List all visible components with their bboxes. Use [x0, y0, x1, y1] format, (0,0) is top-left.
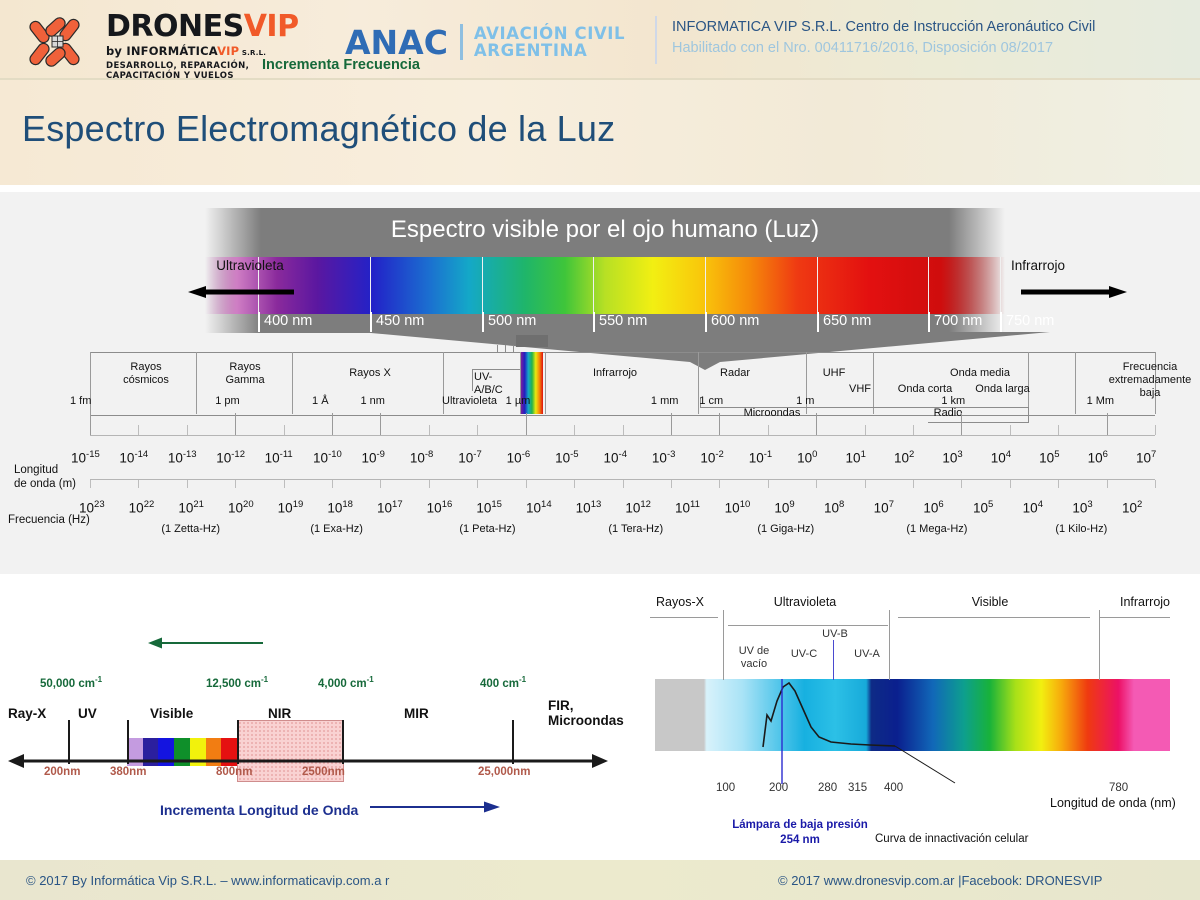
wavenumber-label: 400 cm-1 [480, 675, 526, 690]
minor-tick [865, 425, 866, 435]
frequency-exponent-label: 106 [923, 499, 943, 516]
uv-c-label: UV-C [782, 648, 826, 661]
minor-tick-lower [1155, 480, 1156, 488]
wavelength-exponent-label: 107 [1136, 449, 1156, 466]
uv-visible-spectrum-bar [655, 679, 1170, 776]
anac-subtitle-line2: ARGENTINA [474, 42, 625, 59]
brand-name-vip: VIP [244, 9, 299, 44]
minor-tick-lower [913, 480, 914, 488]
uv-arrow-icon [188, 286, 294, 298]
em-band-label: RayosGamma [202, 361, 288, 387]
wavelength-exponent-label: 10-14 [119, 449, 148, 466]
minor-tick-lower [138, 480, 139, 488]
em-band-separator [292, 352, 293, 414]
wavelength-exponent-label: 10-12 [216, 449, 245, 466]
uv-b-label: UV-B [810, 628, 860, 641]
anac-logo: ANAC AVIACIÓN CIVIL ARGENTINA [345, 22, 625, 62]
frequency-exponent-label: 105 [973, 499, 993, 516]
minor-tick-lower [768, 480, 769, 488]
wavelength-row-label-l2: de onda (m) [14, 477, 76, 491]
uv-visible-axis-label: Longitud de onda (nm) [1050, 796, 1176, 810]
frequency-exponent-label: 1017 [377, 499, 403, 516]
uv-tick-label: 315 [848, 782, 867, 794]
minor-tick-lower [526, 480, 527, 488]
minor-tick-lower [719, 480, 720, 488]
spectrum-tick-label: 750 nm [1000, 312, 1054, 332]
ir-region-separator [237, 720, 239, 764]
slide-root: DRONESVIP by INFORMÁTICAVIP S.R.L. DESAR… [0, 0, 1200, 900]
frequency-exponent-label: 1012 [625, 499, 651, 516]
wavelength-exponent-label: 10-11 [265, 449, 293, 466]
uv-tick-label: 280 [818, 782, 837, 794]
wavelength-exponent-label: 104 [991, 449, 1011, 466]
ir-region-separator [342, 720, 344, 764]
spectrum-tick-label: 600 nm [705, 312, 759, 332]
wavenumber-label: 50,000 cm-1 [40, 675, 102, 690]
visible-spectrum-tick-labels: 400 nm450 nm500 nm550 nm600 nm650 nm700 … [205, 312, 1005, 342]
uv-side-label: Ultravioleta [185, 258, 315, 273]
unit-tick [671, 413, 672, 435]
wavelength-exponent-label: 106 [1088, 449, 1108, 466]
minor-tick-lower [865, 480, 866, 488]
frequency-exponent-label: 1016 [427, 499, 453, 516]
spectrum-tick [817, 257, 818, 314]
unit-tick [719, 413, 720, 435]
ir-region-label: Visible [150, 706, 193, 721]
em-band-label: Onda media [930, 367, 1030, 380]
uv-b-marker [833, 640, 834, 680]
propeller-icon [28, 14, 98, 70]
em-band-separator [1075, 352, 1076, 414]
lamp-annotation-line1: Lámpara de baja presión [700, 818, 900, 833]
ir-region-label: UV [78, 706, 97, 721]
minor-tick [187, 425, 188, 435]
minor-tick-lower [816, 480, 817, 488]
onda-brace [928, 422, 1028, 423]
em-band-label-l1: Rayos [100, 361, 192, 374]
spectrum-tick [370, 257, 371, 314]
minor-tick [429, 425, 430, 435]
em-band-label: Rayoscósmicos [100, 361, 192, 387]
wavelength-exponent-label: 10-7 [458, 449, 481, 466]
curve-annotation: Curva de innactivación celular [875, 833, 1028, 845]
increment-frequency-arrow-icon [148, 636, 263, 650]
frequency-exponent-label: 1013 [576, 499, 602, 516]
em-band-label-l1: Rayos X [300, 367, 440, 380]
minor-tick-lower [90, 480, 91, 488]
em-band-label-l1: Radar [700, 367, 770, 380]
spectrum-tick [705, 257, 706, 314]
anac-subtitle: AVIACIÓN CIVIL ARGENTINA [474, 25, 625, 59]
frequency-prefix-label: (1 Giga-Hz) [757, 523, 814, 535]
em-uv-label-l1: UV- [474, 371, 520, 384]
page-title: Espectro Electromagnético de la Luz [22, 108, 615, 150]
frequency-prefix-label: (1 Kilo-Hz) [1055, 523, 1107, 535]
minor-tick-lower [332, 480, 333, 488]
em-band-label: UHF [812, 367, 856, 380]
wavelength-exponent-label: 10-13 [168, 449, 197, 466]
ir-region-separator [68, 720, 70, 764]
frequency-exponent-label: 1021 [178, 499, 204, 516]
anac-wordmark: ANAC [345, 26, 448, 59]
wavelength-label: 25,000nm [478, 766, 530, 778]
minor-tick-lower [1058, 480, 1059, 488]
wavelength-label: 200nm [44, 766, 80, 778]
brand-by-informatica: INFORMÁTICA [126, 44, 217, 58]
em-band-label-radio: Radio [888, 407, 1008, 420]
uv-tick-label: 780 [1109, 782, 1128, 794]
minor-tick-lower [429, 480, 430, 488]
em-microondas-label: Microondas [712, 407, 832, 420]
em-band-label-l2: Gamma [202, 374, 288, 387]
wavelength-label: 2500nm [302, 766, 345, 778]
ir-region-label: MIR [404, 706, 429, 721]
minor-tick [138, 425, 139, 435]
minor-tick [1058, 425, 1059, 435]
spectrum-panel: Espectro visible por el ojo humano (Luz)… [0, 192, 1200, 574]
minor-tick [913, 425, 914, 435]
wavelength-row-label-l1: Longitud [14, 463, 76, 477]
wavelength-exponent-label: 100 [797, 449, 817, 466]
minor-tick-lower [671, 480, 672, 488]
accreditation-line1: INFORMATICA VIP S.R.L. Centro de Instruc… [672, 17, 1192, 38]
em-uv-brace-top [472, 369, 520, 370]
uv-vacio-l2: vacío [726, 658, 782, 671]
unit-tick [90, 413, 91, 435]
uv-top-rule [728, 625, 888, 626]
uv-top-rule [650, 617, 718, 618]
wavelength-exponent-label: 10-8 [410, 449, 433, 466]
unit-tick [332, 413, 333, 435]
spectrum-tick [1000, 257, 1001, 314]
header-accreditation: INFORMATICA VIP S.R.L. Centro de Instruc… [672, 17, 1192, 59]
frequency-exponent-label: 107 [874, 499, 894, 516]
spectrum-tick-label: 500 nm [482, 312, 536, 332]
frequency-prefix-label: (1 Tera-Hz) [608, 523, 663, 535]
uv-vacio-label: UV devacío [726, 645, 782, 671]
cell-inactivation-curve [655, 679, 1170, 754]
spectrum-tick-label: 550 nm [593, 312, 647, 332]
lamp-annotation-line2: 254 nm [700, 833, 900, 848]
uv-tick-label: 200 [769, 782, 788, 794]
wavelength-exponent-label: 101 [846, 449, 866, 466]
em-band-label-l1: Onda media [930, 367, 1030, 380]
em-band-label-microondas: Microondas [712, 407, 832, 420]
uv-top-rule [898, 617, 1090, 618]
minor-tick-lower [477, 480, 478, 488]
em-uv-brace-side [472, 369, 473, 391]
unit-label: 1 mm [651, 395, 705, 407]
spectrum-tick-label: 650 nm [817, 312, 871, 332]
minor-tick [574, 425, 575, 435]
footer-right-text: © 2017 www.dronesvip.com.ar |Facebook: D… [778, 873, 1102, 888]
em-band-separator [196, 352, 197, 414]
accreditation-line2: Habilitado con el Nro. 00411716/2016, Di… [672, 38, 1192, 59]
frequency-prefix-label: (1 Zetta-Hz) [161, 523, 220, 535]
unit-label: 1 nm [360, 395, 414, 407]
frequency-exponent-label: 109 [774, 499, 794, 516]
unit-label: 1 pm [215, 395, 269, 407]
em-band-label: Infrarrojo [560, 367, 670, 380]
anac-divider [460, 24, 463, 60]
ir-region-separator [512, 720, 514, 764]
wavelength-label: 380nm [110, 766, 146, 778]
low-pressure-lamp-annotation: Lámpara de baja presión 254 nm [700, 818, 900, 848]
wavelength-exponent-label: 10-3 [652, 449, 675, 466]
uv-top-label: Rayos-X [640, 595, 720, 609]
uv-guide-line [1099, 610, 1100, 680]
frequency-exponent-label: 1010 [725, 499, 751, 516]
em-band-label-l1: Frecuencia [1090, 361, 1200, 374]
em-band-label-l1: Rayos [202, 361, 288, 374]
unit-label: 1 km [941, 395, 995, 407]
wavelength-exponent-label: 10-10 [313, 449, 342, 466]
minor-tick [1155, 425, 1156, 435]
brand-name-drones: DRONES [106, 9, 244, 44]
frequency-prefix-label: (1 Mega-Hz) [906, 523, 967, 535]
uv-guide-line [889, 610, 890, 680]
minor-tick-lower [284, 480, 285, 488]
unit-label: 1 µm [506, 395, 560, 407]
em-uv-tick [505, 345, 506, 352]
frequency-exponent-label: 103 [1072, 499, 1092, 516]
footer-left-text: © 2017 By Informática Vip S.R.L. – www.i… [26, 873, 389, 888]
brand-name: DRONESVIP [106, 12, 323, 42]
spectrum-tick-label: 450 nm [370, 312, 424, 332]
minor-tick [477, 425, 478, 435]
wavenumber-label: 12,500 cm-1 [206, 675, 268, 690]
spectrum-tick [593, 257, 594, 314]
visible-spectrum-chart: Espectro visible por el ojo humano (Luz)… [155, 208, 1045, 343]
brand-by-prefix: by [106, 44, 126, 58]
spectrum-tick-label: 700 nm [928, 312, 982, 332]
increment-wavelength-arrow-icon [370, 800, 500, 814]
unit-tick [961, 413, 962, 435]
minor-tick-lower [574, 480, 575, 488]
unit-label: 1 m [796, 395, 850, 407]
spectrum-tick [928, 257, 929, 314]
uv-tick-label: 400 [884, 782, 903, 794]
em-visible-marker-cap [516, 335, 548, 347]
minor-tick-lower [235, 480, 236, 488]
minor-tick [623, 425, 624, 435]
em-band-label-l1: UHF [812, 367, 856, 380]
visible-spectrum-ticks [205, 257, 1005, 314]
uv-top-rule [1100, 617, 1170, 618]
unit-label: 1 Mm [1087, 395, 1141, 407]
unit-label: 1 Å [312, 395, 366, 407]
em-band-label-l2: cósmicos [100, 374, 192, 387]
increment-frequency-label: Incrementa Frecuencia [262, 57, 420, 73]
unit-label: 1 fm [70, 395, 124, 407]
spectrum-tick-label: 400 nm [258, 312, 312, 332]
uv-top-label: Infrarrojo [1095, 595, 1195, 609]
unit-tick [1107, 413, 1108, 435]
frequency-exponent-label: 1020 [228, 499, 254, 516]
spectrum-tick [482, 257, 483, 314]
frequency-exponent-label: 108 [824, 499, 844, 516]
ir-region-separator [127, 720, 129, 764]
wavelength-exponent-label: 10-1 [749, 449, 772, 466]
uv-a-label: UV-A [843, 648, 891, 661]
minor-tick [284, 425, 285, 435]
em-axis-top [90, 435, 1155, 436]
em-uv-tick [513, 345, 514, 352]
wavelength-label: 800nm [216, 766, 252, 778]
anac-subtitle-line1: AVIACIÓN CIVIL [474, 25, 625, 42]
em-band-label-uv: UV-A/B/C [474, 371, 520, 397]
increment-wavelength-label: Incrementa Longitud de Onda [160, 802, 358, 818]
minor-tick-lower [623, 480, 624, 488]
brand-by-line: by INFORMÁTICAVIP S.R.L. [106, 44, 323, 58]
wavelength-exponent-label: 105 [1039, 449, 1059, 466]
em-radio-label: Radio [888, 407, 1008, 420]
unit-tick [380, 413, 381, 435]
em-band-label-l1: Infrarrojo [560, 367, 670, 380]
wavelength-exponent-label: 10-5 [555, 449, 578, 466]
em-band-label: Radar [700, 367, 770, 380]
minor-tick-lower [380, 480, 381, 488]
uv-guide-line [723, 610, 724, 680]
uv-top-label: Ultravioleta [720, 595, 890, 609]
frequency-exponent-label: 102 [1122, 499, 1142, 516]
frequency-exponent-label: 1015 [476, 499, 502, 516]
ir-region-label: Ray-X [8, 706, 46, 721]
fir-label-l2: Microondas [548, 713, 624, 728]
wavelength-exponent-label: 10-2 [700, 449, 723, 466]
frequency-exponent-label: 104 [1023, 499, 1043, 516]
minor-tick-lower [187, 480, 188, 488]
wavelength-exponent-label: 102 [894, 449, 914, 466]
frequency-exponent-label: 1011 [675, 499, 700, 516]
ir-region-label: NIR [268, 706, 291, 721]
header-vertical-divider [655, 16, 657, 64]
ir-side-label: Infrarrojo [1011, 258, 1141, 273]
uv-top-label: Visible [900, 595, 1080, 609]
uv-vacio-l1: UV de [726, 645, 782, 658]
wavelength-exponent-label: 10-9 [361, 449, 384, 466]
unit-tick [816, 413, 817, 435]
em-band-label: Rayos X [300, 367, 440, 380]
minor-tick [1010, 425, 1011, 435]
brand-by-vip: VIP [217, 44, 239, 58]
frequency-exponent-label: 1018 [327, 499, 353, 516]
wavenumber-label: 4,000 cm-1 [318, 675, 374, 690]
unit-tick [526, 413, 527, 435]
frequency-exponent-label: 1022 [129, 499, 155, 516]
unit-tick [235, 413, 236, 435]
unit-label: 1 cm [699, 395, 753, 407]
wavelength-exponent-label: 10-6 [507, 449, 530, 466]
fir-label-l1: FIR, [548, 698, 624, 713]
wavelength-row-label: Longitud de onda (m) [14, 463, 76, 491]
frequency-row-label: Frecuencia (Hz) [8, 513, 90, 527]
frequency-exponent-label: 1019 [278, 499, 304, 516]
em-spectrum-diagram: RayoscósmicosRayosGammaRayos XInfrarrojo… [0, 347, 1200, 572]
minor-tick [768, 425, 769, 435]
ir-arrow-icon [1021, 286, 1127, 298]
frequency-prefix-label: (1 Exa-Hz) [310, 523, 363, 535]
onda-brace-r [1028, 407, 1029, 423]
em-band-label-l2: extremadamente [1090, 374, 1200, 387]
minor-tick-lower [1010, 480, 1011, 488]
uv-tick-label: 100 [716, 782, 735, 794]
visible-spectrum-title: Espectro visible por el ojo humano (Luz) [205, 216, 1005, 244]
minor-tick-lower [961, 480, 962, 488]
frequency-prefix-label: (1 Peta-Hz) [459, 523, 515, 535]
em-uv-tick [497, 345, 498, 352]
brand-by-srl: S.R.L. [239, 49, 266, 57]
wavelength-exponent-label: 10-4 [604, 449, 627, 466]
ir-region-label-fir: FIR,Microondas [548, 698, 624, 728]
frequency-exponent-label: 1014 [526, 499, 552, 516]
minor-tick-lower [1107, 480, 1108, 488]
wavelength-exponent-label: 103 [942, 449, 962, 466]
